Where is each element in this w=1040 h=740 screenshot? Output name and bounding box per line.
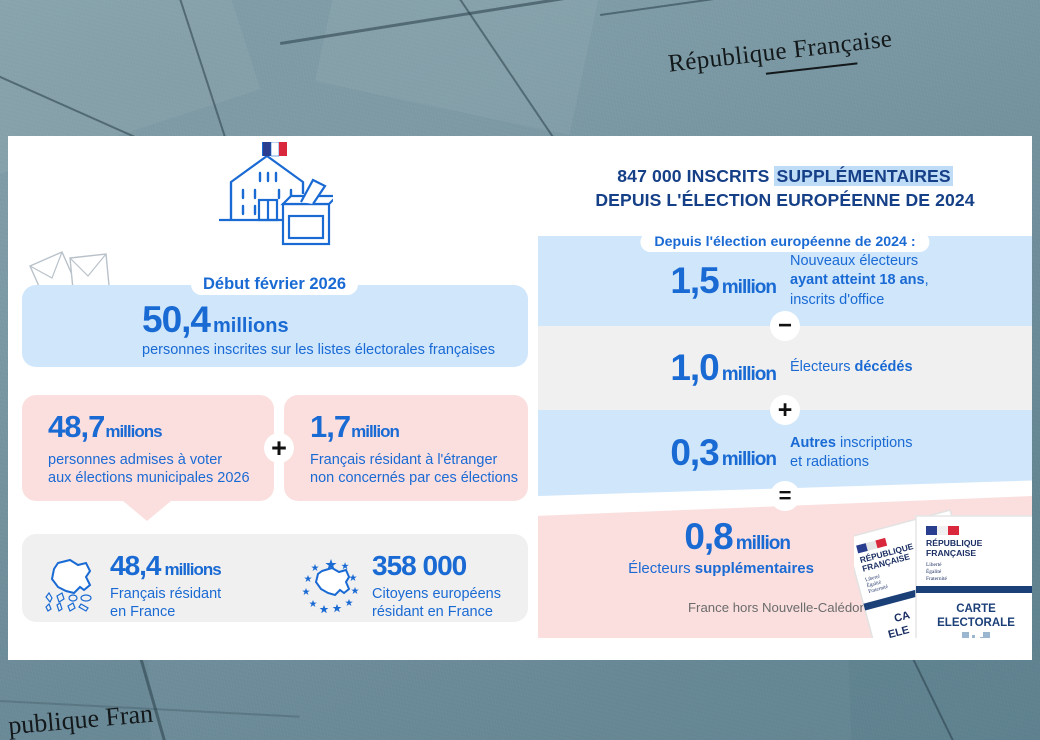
electoral-cards-icon: RÉPUBLIQUE FRANÇAISE Liberté Égalité Fra… [854, 504, 1032, 638]
result-label-plain: Électeurs [628, 560, 695, 577]
residents-number: 48,4 [110, 550, 161, 581]
flow-row-description: Autres inscriptions et radiations [790, 434, 1032, 472]
flow-row-value: 1,0million [538, 347, 790, 389]
title-line1-plain: 847 000 INSCRITS [617, 166, 774, 186]
residents-value-row: 358 000 [372, 550, 501, 582]
residents-description-line2: résidant en France [372, 603, 501, 621]
flow-row-desc-line1-bold: Autres [790, 435, 836, 451]
flow-rows: Depuis l'élection européenne de 2024 : 1… [538, 236, 1032, 638]
breakdown-content: 1,7million Français résidant à l'étrange… [310, 409, 518, 488]
breakdown-number: 1,7 [310, 409, 350, 444]
operator-plus-icon: + [770, 395, 800, 425]
title-line1-highlight: SUPPLÉMENTAIRES [774, 166, 952, 186]
residents-value-row: 48,4millions [110, 550, 221, 582]
residents-unit: millions [165, 560, 221, 579]
breakdown-description-line2: non concernés par ces élections [310, 469, 518, 487]
breakdown-description-line2: aux élections municipales 2026 [48, 469, 250, 487]
residents-text: 358 000 Citoyens européens résidant en F… [372, 550, 501, 622]
breakdown-description-line1: personnes admises à voter [48, 451, 250, 469]
svg-text:FRANÇAISE: FRANÇAISE [926, 548, 976, 558]
residents-description-line1: Citoyens européens [372, 585, 501, 603]
residents-text: 48,4millions Français résidant en France [110, 550, 221, 622]
date-pill: Début février 2026 [191, 274, 358, 295]
band-pill-label: Depuis l'élection européenne de 2024 : [640, 236, 929, 252]
residents-description: Français résidant en France [110, 585, 221, 622]
flow-row-desc-line2-bold: ayant atteint 18 ans [790, 272, 925, 288]
main-stat-unit: millions [213, 315, 289, 337]
breakdown-description: personnes admises à voter aux élections … [48, 451, 250, 488]
main-stat-box: 50,4millions personnes inscrites sur les… [22, 285, 528, 367]
flow-row-unit: million [722, 277, 776, 298]
result-label-bold: supplémentaires [695, 560, 814, 577]
breakdown-value-row: 48,7millions [48, 409, 250, 445]
operator-equals-icon: = [770, 481, 800, 511]
townhall-ballotbox-icon [213, 142, 333, 257]
result-number: 0,8 [684, 516, 732, 557]
infographic-card: Début février 2026 50,4millions personne… [8, 136, 1032, 660]
left-panel: Début février 2026 50,4millions personne… [8, 136, 538, 660]
result-value: 0,8million [538, 516, 790, 558]
flow-row-desc-line2: et radiations [790, 453, 1032, 472]
breakdown-box-voters: 48,7millions personnes admises à voter a… [22, 395, 274, 501]
breakdown-description: Français résidant à l'étranger non conce… [310, 451, 518, 488]
main-stat-number: 50,4 [142, 299, 210, 340]
right-panel: 847 000 INSCRITS SUPPLÉMENTAIRES DEPUIS … [538, 136, 1032, 660]
flow-row-description: Électeurs décédés [790, 358, 1032, 377]
svg-text:Fraternité: Fraternité [926, 576, 948, 582]
flow-row-value: 1,5million [538, 260, 790, 302]
svg-text:Égalité: Égalité [926, 567, 942, 575]
svg-text:ELECTORALE: ELECTORALE [937, 617, 1015, 629]
breakdown-content: 48,7millions personnes admises à voter a… [48, 409, 250, 488]
flow-row-unit: million [722, 449, 776, 470]
breakdown-unit: millions [105, 422, 161, 441]
breakdown-box-expats: 1,7million Français résidant à l'étrange… [284, 395, 528, 501]
main-stat-content: 50,4millions personnes inscrites sur les… [142, 299, 495, 359]
flow-row-result: 0,8million Électeurs supplémentaires Fra… [538, 496, 1032, 638]
flow-row-number: 0,3 [670, 432, 718, 473]
title-line2: DEPUIS L'ÉLECTION EUROPÉENNE DE 2024 [595, 190, 974, 210]
flow-row-desc-line1: Nouveaux électeurs [790, 252, 1032, 271]
right-panel-title: 847 000 INSCRITS SUPPLÉMENTAIRES DEPUIS … [538, 164, 1032, 213]
svg-text:Liberté: Liberté [926, 562, 942, 568]
result-footnote: France hors Nouvelle-Calédonie [688, 600, 877, 615]
residents-description-line1: Français résidant [110, 585, 221, 603]
main-stat-value-row: 50,4millions [142, 299, 495, 341]
map-france-eu-stars-icon [300, 557, 362, 615]
residents-description-line2: en France [110, 603, 221, 621]
residents-box: 48,4millions Français résidant en France [22, 534, 528, 622]
result-content: 0,8million Électeurs supplémentaires [538, 516, 828, 579]
flow-row-desc-line1-tail: inscriptions [836, 435, 913, 451]
result-unit: million [736, 533, 790, 554]
operator-minus-icon: − [770, 311, 800, 341]
main-stat-description: personnes inscrites sur les listes élect… [142, 341, 495, 359]
residents-description: Citoyens européens résidant en France [372, 585, 501, 622]
operator-plus-icon: + [264, 433, 294, 463]
residents-item-french: 48,4millions Français résidant en France [40, 550, 221, 622]
svg-text:RÉPUBLIQUE: RÉPUBLIQUE [926, 538, 983, 548]
residents-number: 358 000 [372, 550, 466, 581]
flow-row-desc-line1: Électeurs [790, 359, 854, 375]
arrow-down-icon [123, 501, 171, 521]
flow-row-desc-line2-bold: décédés [854, 359, 912, 375]
flow-row-value: 0,3million [538, 432, 790, 474]
result-label: Électeurs supplémentaires [538, 560, 828, 579]
flow-row-desc-line3: inscrits d'office [790, 291, 1032, 310]
flow-row-number: 1,5 [670, 260, 718, 301]
breakdown-number: 48,7 [48, 409, 104, 444]
flow-row-desc-line1: Autres inscriptions [790, 434, 1032, 453]
flow-row-desc-line2: ayant atteint 18 ans, [790, 271, 1032, 290]
breakdown-description-line1: Français résidant à l'étranger [310, 451, 518, 469]
svg-text:CARTE: CARTE [956, 603, 996, 615]
flow-row-number: 1,0 [670, 347, 718, 388]
flow-row-unit: million [722, 364, 776, 385]
breakdown-value-row: 1,7million [310, 409, 518, 445]
breakdown-unit: million [351, 422, 399, 441]
flow-row-description: Nouveaux électeurs ayant atteint 18 ans,… [790, 252, 1032, 309]
residents-item-european: 358 000 Citoyens européens résidant en F… [300, 550, 501, 622]
map-france-icon [40, 557, 100, 615]
flow-row-desc-line2-tail: , [925, 272, 929, 288]
